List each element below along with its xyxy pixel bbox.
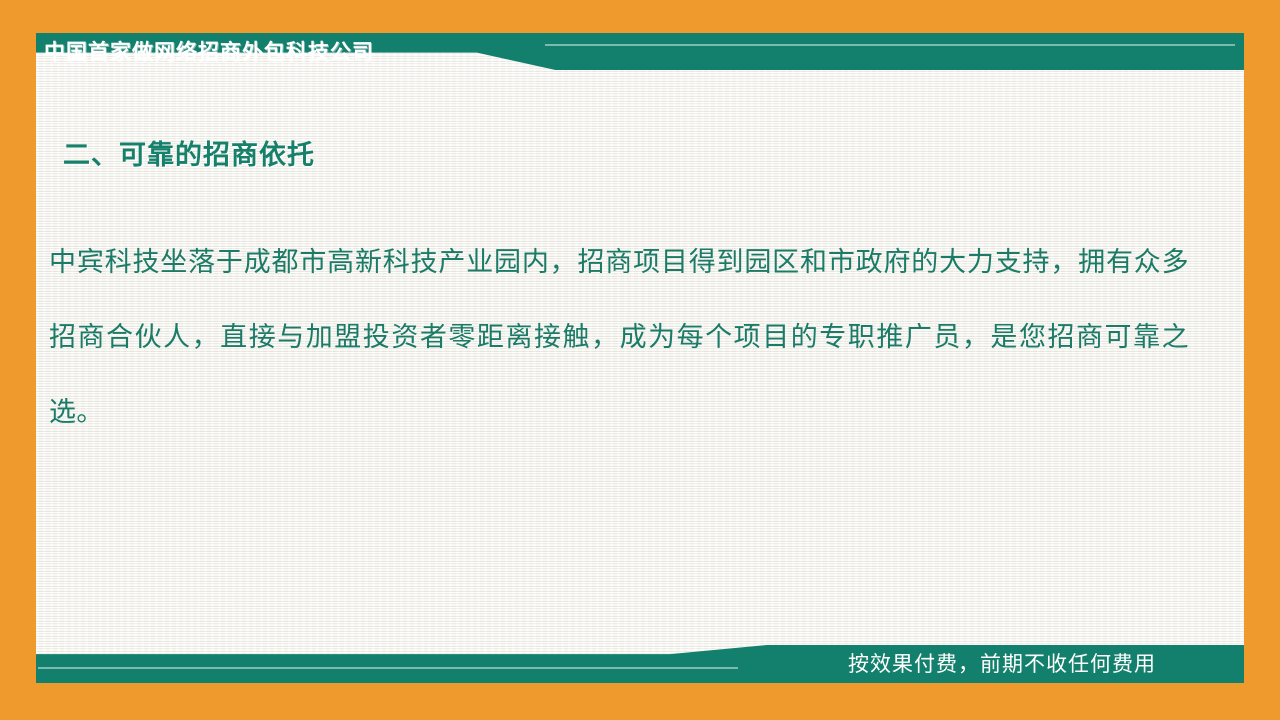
content-area: 二、可靠的招商依托 中宾科技坐落于成都市高新科技产业园内，招商项目得到园区和市政… bbox=[36, 70, 1244, 630]
frame-border-bottom bbox=[0, 683, 1280, 720]
footer-divider-rule bbox=[38, 667, 738, 669]
header-divider-rule bbox=[545, 44, 1235, 46]
section-heading: 二、可靠的招商依托 bbox=[63, 139, 315, 173]
frame-border-right bbox=[1244, 0, 1280, 720]
body-paragraph: 中宾科技坐落于成都市高新科技产业园内，招商项目得到园区和市政府的大力支持，拥有众… bbox=[49, 225, 1189, 450]
frame-border-top bbox=[0, 0, 1280, 33]
frame-border-left bbox=[0, 0, 36, 720]
header-title: 中国首家做网络招商外包科技公司 bbox=[44, 36, 374, 68]
slide-root: 中国首家做网络招商外包科技公司 二、可靠的招商依托 中宾科技坐落于成都市高新科技… bbox=[0, 0, 1280, 720]
footer-tagline: 按效果付费，前期不收任何费用 bbox=[848, 648, 1156, 680]
